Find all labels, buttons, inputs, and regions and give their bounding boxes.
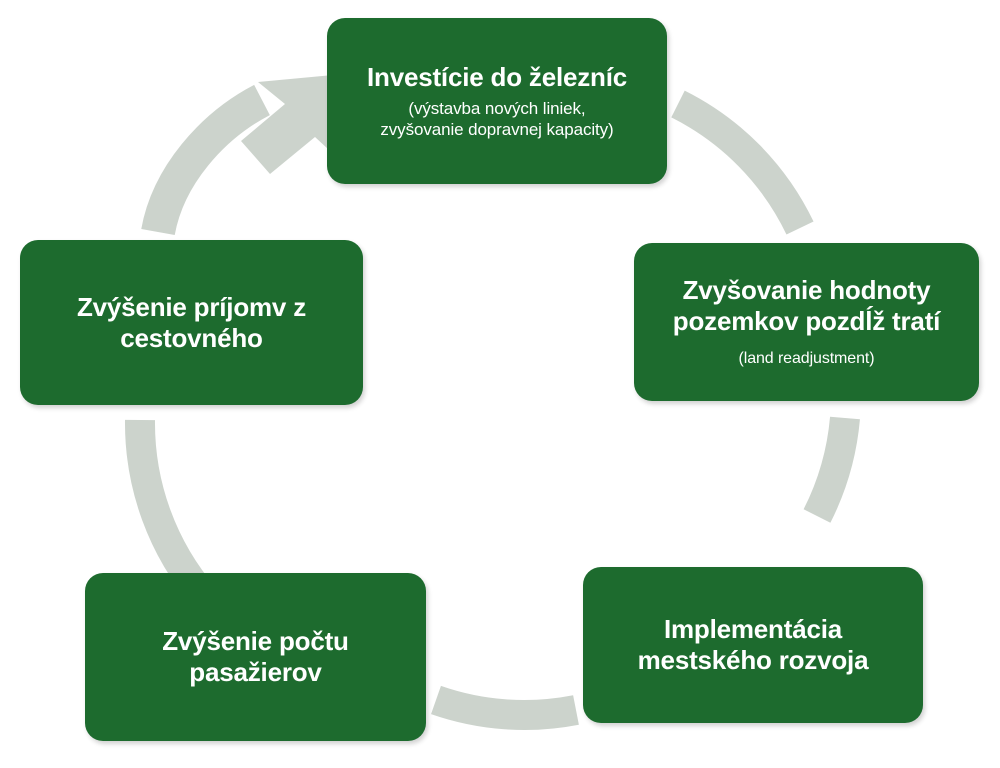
node-title: Zvýšenie príjomv z cestovného xyxy=(77,292,306,353)
node-title: Implementácia mestského rozvoja xyxy=(638,614,869,675)
arc-right-to-bottomright xyxy=(817,418,845,516)
arc-top-to-right xyxy=(678,104,800,228)
cycle-node-zvysenie-poctu-pasazierov[interactable]: Zvýšenie počtu pasažierov xyxy=(85,573,426,741)
node-subtitle: (výstavba nových liniek, zvyšovanie dopr… xyxy=(380,98,613,141)
node-title-line-1: Zvýšenie počtu xyxy=(162,626,348,657)
cycle-node-zvysenie-prijmov-z-cestovneho[interactable]: Zvýšenie príjomv z cestovného xyxy=(20,240,363,405)
cycle-node-investicie-do-zeleznic[interactable]: Investície do železníc (výstavba nových … xyxy=(327,18,667,184)
node-subtitle-line-2: zvyšovanie dopravnej kapacity) xyxy=(380,119,613,140)
node-title-line-2: mestského rozvoja xyxy=(638,645,869,676)
arc-bottom xyxy=(436,700,576,715)
node-title-line-1: Implementácia xyxy=(638,614,869,645)
node-title: Investície do železníc xyxy=(367,62,627,93)
node-title-line-1: Zvýšenie príjomv z xyxy=(77,292,306,323)
node-subtitle-line-1: (výstavba nových liniek, xyxy=(380,98,613,119)
node-title: Zvýšenie počtu pasažierov xyxy=(162,626,348,687)
cycle-node-implementacia-mestskeho-rozvoja[interactable]: Implementácia mestského rozvoja xyxy=(583,567,923,723)
node-title-line-2: pasažierov xyxy=(162,657,348,688)
arrow-left-to-top xyxy=(158,75,341,232)
arc-bottomleft-to-left xyxy=(140,420,205,598)
arrowhead-icon xyxy=(241,75,341,174)
node-title: Zvyšovanie hodnoty pozemkov pozdĺž tratí xyxy=(673,275,940,336)
diagram-canvas: Investície do železníc (výstavba nových … xyxy=(0,0,1000,768)
node-title-line-1: Zvyšovanie hodnoty xyxy=(673,275,940,306)
node-title-line-2: pozemkov pozdĺž tratí xyxy=(673,306,940,337)
arrow-shaft xyxy=(158,100,262,232)
node-title-line-2: cestovného xyxy=(77,323,306,354)
node-subtitle: (land readjustment) xyxy=(739,349,875,369)
cycle-node-zvysovanie-hodnoty-pozemkov[interactable]: Zvyšovanie hodnoty pozemkov pozdĺž tratí… xyxy=(634,243,979,401)
